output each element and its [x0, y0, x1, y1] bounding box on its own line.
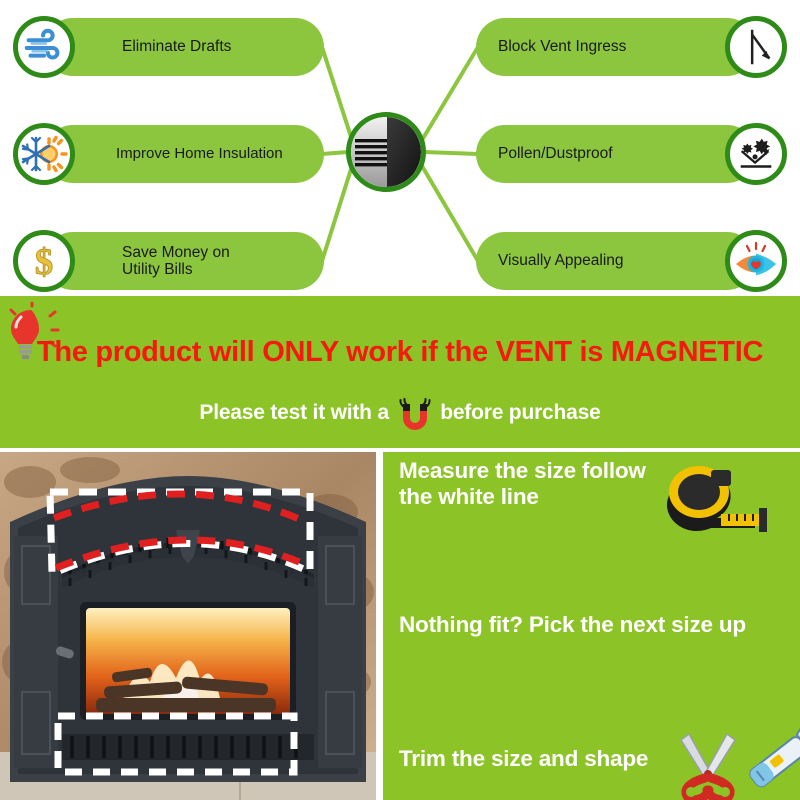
eye-heart-icon: [725, 230, 787, 292]
block-barrier-icon: [725, 16, 787, 78]
bottom-section: Measure the size follow the white line N…: [0, 448, 800, 800]
feature-block-vent-ingress[interactable]: Block Vent Ingress: [470, 18, 800, 76]
feature-label: Block Vent Ingress: [498, 38, 700, 55]
feature-pill: Improve Home Insulation: [44, 125, 324, 183]
instruction-steps-panel: Measure the size follow the white line N…: [383, 452, 800, 800]
feature-pill: Visually Appealing: [476, 232, 756, 290]
feature-label: Improve Home Insulation: [116, 146, 299, 163]
feature-save-money[interactable]: Save Money on Utility Bills $: [0, 232, 330, 290]
warning-subline-before: Please test it with a: [199, 401, 394, 425]
feature-label: Save Money on Utility Bills: [122, 244, 246, 279]
feature-visually-appealing[interactable]: Visually Appealing: [470, 232, 800, 290]
tape-measure-icon: [659, 458, 779, 534]
svg-text:$: $: [35, 241, 53, 282]
fireplace-photo: [0, 452, 376, 800]
pollen-deflect-icon: [725, 123, 787, 185]
scissors-and-knife-icon: [665, 726, 800, 800]
feature-label: Visually Appealing: [498, 252, 698, 269]
warning-subline-after: before purchase: [435, 401, 601, 425]
feature-pill: Pollen/Dustproof: [476, 125, 756, 183]
feature-pill: Block Vent Ingress: [476, 18, 756, 76]
step-next-size: Nothing fit? Pick the next size up: [399, 612, 790, 638]
product-infographic: Eliminate Drafts Impr: [0, 0, 800, 800]
feature-improve-home-insulation[interactable]: Improve Home Insulation: [0, 125, 330, 183]
step-text: Trim the size and shape: [399, 746, 648, 772]
snowflake-sun-icon: [13, 123, 75, 185]
warning-headline: The product will ONLY work if the VENT i…: [0, 336, 800, 369]
step-text: Nothing fit? Pick the next size up: [399, 612, 746, 638]
magnetic-warning-banner: The product will ONLY work if the VENT i…: [0, 296, 800, 448]
feature-pollen-dustproof[interactable]: Pollen/Dustproof: [470, 125, 800, 183]
vent-cover-icon: [346, 112, 426, 192]
dollar-icon: $: [13, 230, 75, 292]
feature-pill: Eliminate Drafts: [44, 18, 324, 76]
magnet-icon: [397, 398, 433, 432]
step-text: Measure the size follow the white line: [399, 458, 646, 509]
warning-subline: Please test it with a before purchase: [0, 396, 800, 430]
feature-eliminate-drafts[interactable]: Eliminate Drafts: [0, 18, 330, 76]
feature-label: Pollen/Dustproof: [498, 145, 687, 162]
wind-icon: [13, 16, 75, 78]
feature-hub-section: Eliminate Drafts Impr: [0, 0, 800, 296]
feature-label: Eliminate Drafts: [122, 38, 247, 55]
feature-pill: Save Money on Utility Bills: [44, 232, 324, 290]
